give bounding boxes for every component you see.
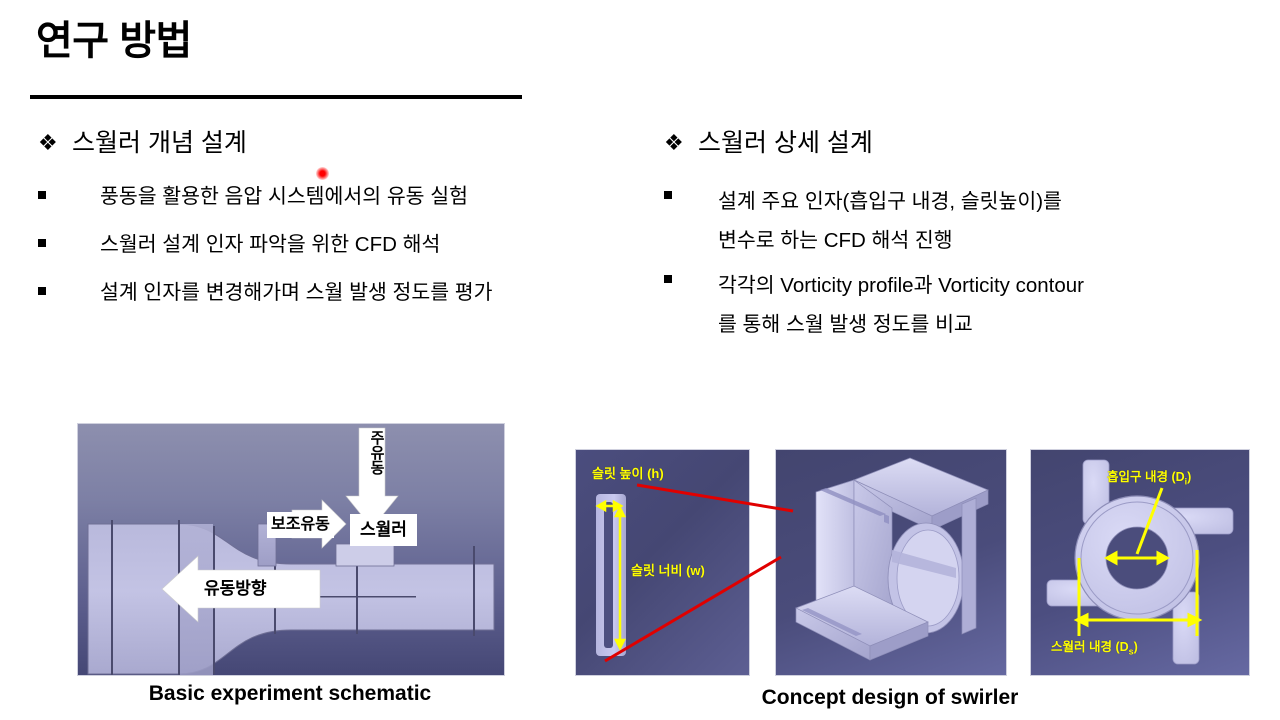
list-item: 스월러 설계 인자 파악을 위한 CFD 해석 — [38, 230, 638, 260]
caption-basic-experiment-schematic: Basic experiment schematic — [77, 682, 503, 706]
list-item-line: 설계 주요 인자(흡입구 내경, 슬릿높이)를 — [718, 190, 1062, 213]
diamond-bullet-icon: ❖ — [38, 126, 72, 160]
list-item-label: 풍동을 활용한 음압 시스템에서의 유동 실험 — [100, 182, 468, 212]
square-bullet-icon — [38, 182, 100, 199]
figure-swirler-cross-section: 흡입구 내경 (Di) 스월러 내경 (Ds) — [1030, 449, 1250, 676]
swirler-3d-drawing — [776, 450, 1006, 675]
diamond-bullet-icon: ❖ — [664, 126, 698, 160]
caption-concept-design: Concept design of swirler — [740, 686, 1040, 710]
list-item-label: 각각의 Vorticity profile과 Vorticity contour… — [718, 266, 1084, 344]
list-item: 설계 인자를 변경해가며 스월 발생 정도를 평가 — [38, 278, 638, 308]
label-main-flow: 주유동 — [364, 430, 388, 482]
figure-basic-experiment-schematic: 주유동 보조유동 스월러 유동방향 — [77, 423, 505, 676]
label-slit-height: 슬릿 높이 (h) — [592, 463, 664, 482]
list-item-line: 를 통해 스월 발생 정도를 비교 — [718, 313, 973, 336]
figure-swirler-3d-model — [775, 449, 1007, 676]
label-flow-direction: 유동방향 — [204, 576, 267, 602]
left-heading: ❖ 스월러 개념 설계 — [38, 126, 638, 160]
square-bullet-icon — [38, 230, 100, 247]
list-item-label: 설계 인자를 변경해가며 스월 발생 정도를 평가 — [100, 278, 493, 308]
schematic-drawing — [78, 424, 504, 675]
list-item: 설계 주요 인자(흡입구 내경, 슬릿높이)를 변수로 하는 CFD 해석 진행 — [664, 182, 1276, 260]
label-main-flow-text: 주유동 — [365, 430, 387, 475]
right-column: ❖ 스월러 상세 설계 설계 주요 인자(흡입구 내경, 슬릿높이)를 변수로 … — [664, 126, 1276, 350]
right-heading: ❖ 스월러 상세 설계 — [664, 126, 1276, 160]
square-bullet-icon — [664, 266, 718, 283]
figure-slit-detail: 슬릿 높이 (h) 슬릿 너비 (w) — [575, 449, 750, 676]
list-item-label: 설계 주요 인자(흡입구 내경, 슬릿높이)를 변수로 하는 CFD 해석 진행 — [718, 182, 1062, 260]
label-inlet-diameter: 흡입구 내경 (Di) — [1107, 466, 1191, 487]
label-inlet-close: ) — [1187, 470, 1191, 484]
label-swirler-close: ) — [1134, 640, 1138, 654]
flange-line-1 — [111, 520, 113, 675]
list-item: 각각의 Vorticity profile과 Vorticity contour… — [664, 266, 1276, 344]
crosshair-horizontal — [308, 596, 416, 598]
list-item-label: 스월러 설계 인자 파악을 위한 CFD 해석 — [100, 230, 440, 260]
left-column: ❖ 스월러 개념 설계 풍동을 활용한 음압 시스템에서의 유동 실험 스월러 … — [38, 126, 638, 326]
title-underline — [30, 95, 522, 99]
label-aux-flow: 보조유동 — [267, 512, 334, 538]
list-item: 풍동을 활용한 음압 시스템에서의 유동 실험 — [38, 182, 638, 212]
label-slit-width: 슬릿 너비 (w) — [631, 560, 705, 579]
slit-slot — [604, 502, 613, 648]
rear-wall — [962, 498, 976, 634]
square-bullet-icon — [38, 278, 100, 295]
list-item-line: 변수로 하는 CFD 해석 진행 — [718, 229, 953, 252]
label-swirler-diameter: 스월러 내경 (Ds) — [1051, 636, 1138, 657]
page-title: 연구 방법 — [36, 18, 192, 64]
left-heading-label: 스월러 개념 설계 — [72, 126, 247, 160]
label-inlet-diameter-text: 흡입구 내경 (D — [1107, 470, 1185, 484]
probe-line-right — [473, 546, 475, 636]
square-bullet-icon — [664, 182, 718, 199]
label-swirler: 스월러 — [350, 514, 417, 546]
label-swirler-diameter-text: 스월러 내경 (D — [1051, 640, 1129, 654]
cursor-pointer-dot — [316, 167, 329, 180]
right-heading-label: 스월러 상세 설계 — [698, 126, 873, 160]
slide-canvas: 연구 방법 ❖ 스월러 개념 설계 풍동을 활용한 음압 시스템에서의 유동 실… — [0, 0, 1280, 720]
swirler-mount — [336, 544, 394, 566]
list-item-line: 각각의 Vorticity profile과 Vorticity contour — [718, 274, 1084, 297]
